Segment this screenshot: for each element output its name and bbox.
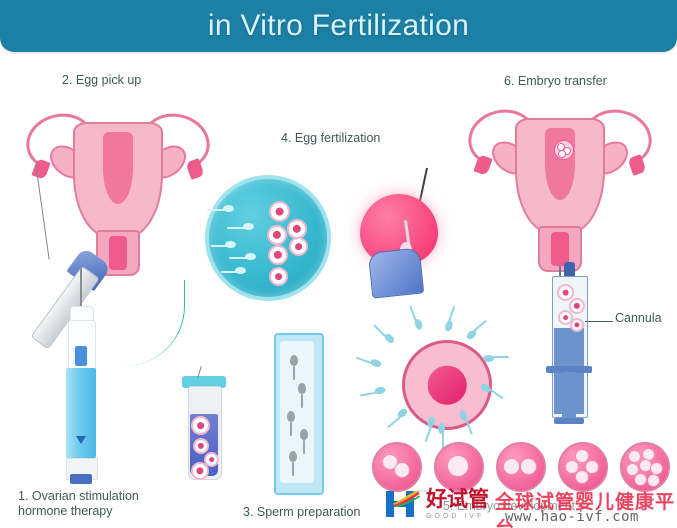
- hormone-injection-pen: [52, 268, 112, 483]
- sperm-sample-vial: [274, 333, 322, 493]
- implanted-embryo: [554, 140, 574, 160]
- site-logo[interactable]: 好试管 GOOD IVF: [386, 489, 489, 521]
- logo-chinese-name: 好试管: [426, 489, 489, 510]
- step-1-label: 1. Ovarian stimulation hormone therapy: [18, 489, 139, 519]
- petri-dish-icon: [205, 175, 331, 301]
- watermark-url[interactable]: www.hao-ivf.com: [505, 509, 639, 525]
- uterus-aspiration-icon: [18, 104, 218, 304]
- cannula-leader-line: [585, 321, 613, 322]
- embryo-stage-4cell: [558, 442, 608, 492]
- logo-swoosh-icon: [392, 491, 420, 507]
- embryo-transfer-syringe: [540, 262, 600, 442]
- embryo-stage-2cell: [496, 442, 546, 492]
- icsi-microinjection: [348, 168, 478, 298]
- step-6-label: 6. Embryo transfer: [504, 74, 607, 89]
- step-3-label: 3. Sperm preparation: [243, 505, 360, 520]
- egg-collection-vial: [180, 372, 228, 482]
- logo-english-name: GOOD IVF: [426, 512, 489, 521]
- aspiration-catheter: [114, 280, 185, 366]
- step-4-label: 4. Egg fertilization: [281, 131, 380, 146]
- aspiration-needle: [35, 164, 50, 259]
- infographic-page: in Vitro Fertilization 2. Egg pick up 1.…: [0, 0, 677, 528]
- embryo-stage-8cell: [620, 442, 670, 492]
- step-2-label: 2. Egg pick up: [62, 73, 141, 88]
- logo-h-icon: [386, 489, 422, 519]
- page-title: in Vitro Fertilization: [0, 0, 677, 52]
- cannula-label: Cannula: [615, 311, 662, 326]
- embryo-stage-1cell: [434, 442, 484, 492]
- header-banner: in Vitro Fertilization: [0, 0, 677, 52]
- egg-with-sperm: [368, 318, 518, 448]
